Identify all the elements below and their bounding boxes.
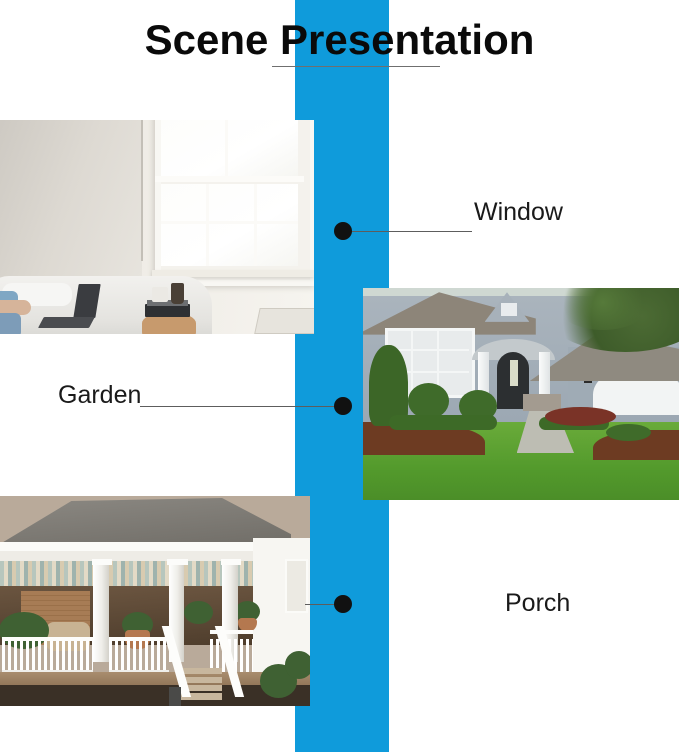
connector-line-window [346, 231, 472, 232]
connector-dot-garden [334, 397, 352, 415]
photo-porch [0, 496, 310, 706]
photo-garden [363, 288, 679, 500]
callout-label-porch: Porch [505, 589, 570, 618]
connector-line-garden [140, 406, 343, 407]
callout-label-garden: Garden [58, 381, 141, 410]
callout-label-window: Window [474, 198, 563, 227]
porch-illustration [0, 496, 310, 706]
connector-dot-porch [334, 595, 352, 613]
house-garden-illustration [363, 288, 679, 500]
title-underline [272, 66, 440, 67]
page-title: Scene Presentation [0, 14, 679, 66]
connector-dot-window [334, 222, 352, 240]
scene-presentation-slide: Scene Presentation [0, 0, 679, 752]
bedroom-illustration [0, 120, 314, 334]
photo-window [0, 120, 314, 334]
